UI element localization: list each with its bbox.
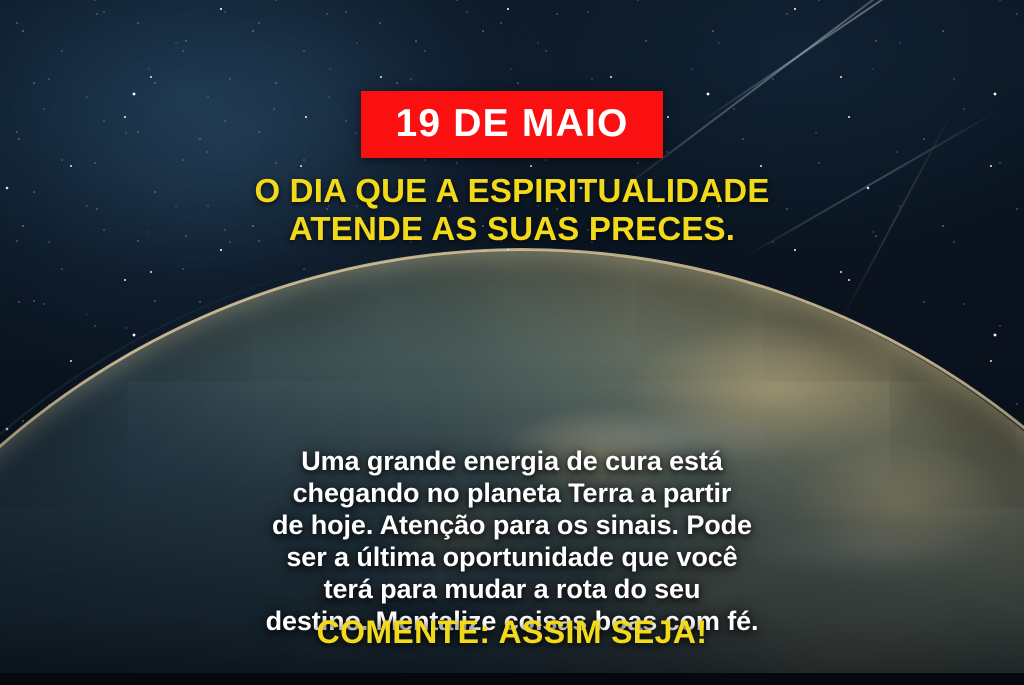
date-banner: 19 DE MAIO: [361, 91, 662, 158]
body-paragraph: Uma grande energia de cura está chegando…: [0, 446, 1024, 638]
headline: O DIA QUE A ESPIRITUALIDADE ATENDE AS SU…: [254, 172, 769, 249]
body-line-4: ser a última oportunidade que você: [0, 542, 1024, 574]
poster-content: 19 DE MAIO O DIA QUE A ESPIRITUALIDADE A…: [0, 0, 1024, 685]
headline-line-2: ATENDE AS SUAS PRECES.: [254, 210, 769, 248]
body-line-3: de hoje. Atenção para os sinais. Pode: [0, 510, 1024, 542]
headline-line-1: O DIA QUE A ESPIRITUALIDADE: [254, 172, 769, 210]
body-line-2: chegando no planeta Terra a partir: [0, 478, 1024, 510]
body-line-5: terá para mudar a rota do seu: [0, 574, 1024, 606]
social-media-poster: 19 DE MAIO O DIA QUE A ESPIRITUALIDADE A…: [0, 0, 1024, 685]
call-to-action-text: COMENTE: ASSIM SEJA!: [0, 614, 1024, 651]
body-line-1: Uma grande energia de cura está: [0, 446, 1024, 478]
